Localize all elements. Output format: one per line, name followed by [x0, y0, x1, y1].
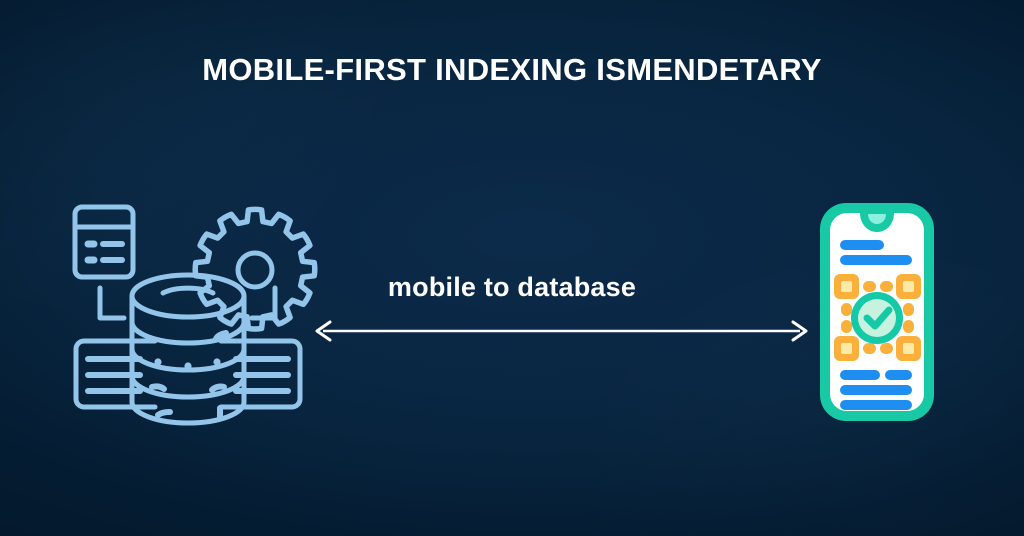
double-headed-arrow: [313, 318, 810, 344]
text-bar-top-long: [840, 255, 912, 265]
dash-bottom-right: [880, 343, 893, 354]
document-card-icon: [75, 207, 133, 277]
list-panel-left-icon: [76, 341, 155, 407]
gear-icon: [195, 209, 315, 329]
dash-left-upper: [841, 303, 852, 316]
mobile-phone-icon-graphic: [803, 198, 951, 426]
text-bar-top-short: [840, 240, 884, 250]
dash-right-upper: [903, 303, 914, 316]
text-bar-bottom-a: [840, 370, 880, 380]
list-panel-right-icon: [221, 341, 300, 407]
infographic-canvas: MOBILE-FIRST INDEXING ISMENDETARY: [0, 0, 1024, 536]
text-bar-bottom-c: [840, 385, 912, 395]
dash-top-right: [880, 281, 893, 292]
page-title: MOBILE-FIRST INDEXING ISMENDETARY: [0, 52, 1024, 88]
mobile-phone-icon: [803, 198, 951, 426]
dash-top-left: [863, 281, 876, 292]
dash-left-lower: [841, 320, 852, 333]
database-icon: [62, 196, 314, 428]
database-icon-graphic: [62, 196, 314, 428]
corner-marker-top-right: [896, 274, 921, 299]
check-badge-icon: [851, 292, 903, 344]
dash-right-lower: [903, 320, 914, 333]
text-bar-bottom-d: [840, 400, 912, 410]
dash-bottom-left: [863, 343, 876, 354]
corner-marker-bottom-right: [896, 336, 921, 361]
text-bar-bottom-b: [885, 370, 912, 380]
corner-marker-bottom-left: [834, 336, 859, 361]
corner-marker-top-left: [834, 274, 859, 299]
double-headed-arrow-graphic: [313, 318, 810, 344]
